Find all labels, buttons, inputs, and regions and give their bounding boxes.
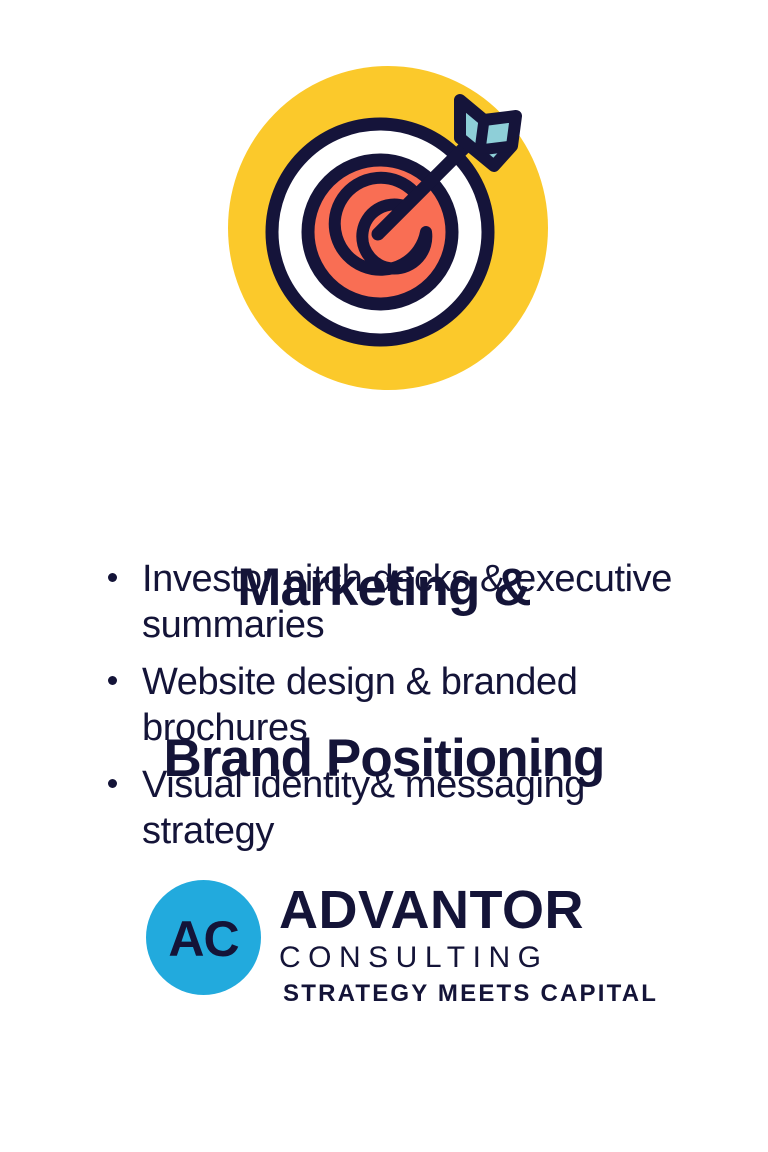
- service-list: Investor pitch decks & executive summari…: [108, 556, 708, 865]
- logo-monogram-text: AC: [168, 911, 238, 967]
- logo-subtitle: CONSULTING: [279, 941, 679, 975]
- target-with-arrow-icon: [228, 66, 548, 390]
- logo-tagline: STRATEGY MEETS CAPITAL: [283, 980, 679, 1008]
- list-item-label: Website design & branded brochures: [142, 659, 708, 751]
- brand-logo: AC ADVANTOR CONSULTING STRATEGY MEETS CA…: [146, 880, 686, 1030]
- logo-monogram-mark: AC: [146, 880, 261, 995]
- list-item: Visual identity& messaging strategy: [108, 762, 708, 854]
- list-item-label: Investor pitch decks & executive summari…: [142, 556, 708, 648]
- bullet-dot-icon: [108, 779, 117, 788]
- list-item-label: Visual identity& messaging strategy: [142, 762, 708, 854]
- logo-wordmark: ADVANTOR CONSULTING STRATEGY MEETS CAPIT…: [279, 882, 679, 1008]
- bullet-dot-icon: [108, 676, 117, 685]
- logo-name: ADVANTOR: [279, 882, 679, 938]
- list-item: Investor pitch decks & executive summari…: [108, 556, 708, 648]
- bullet-dot-icon: [108, 573, 117, 582]
- list-item: Website design & branded brochures: [108, 659, 708, 751]
- marketing-brand-positioning-card: Marketing & Brand Positioning Investor p…: [0, 0, 768, 1152]
